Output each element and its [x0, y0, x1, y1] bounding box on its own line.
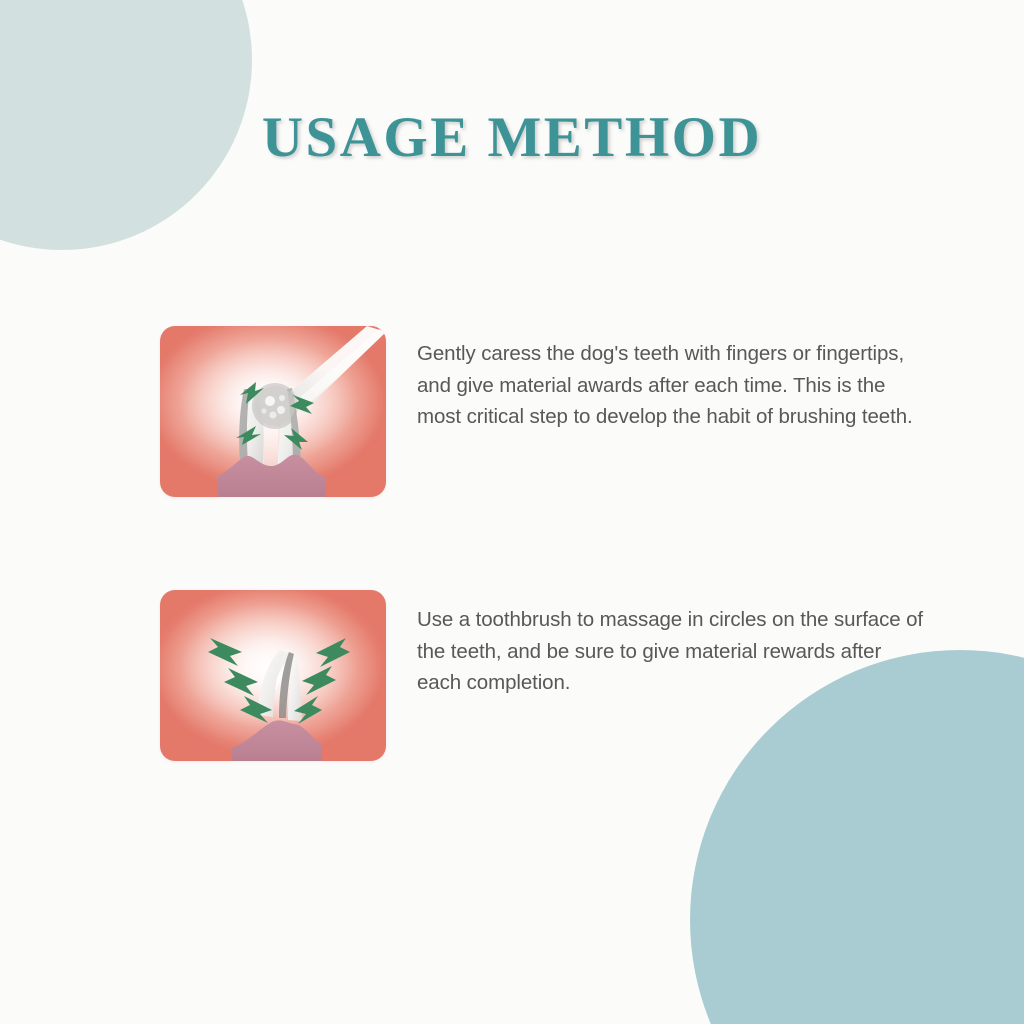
step-item: Use a toothbrush to massage in circles o… [160, 590, 950, 765]
finger-brushing-tooth-icon [160, 326, 386, 497]
step-2-illustration-card [160, 590, 386, 761]
usage-method-infographic: USAGE METHOD [0, 0, 1024, 1024]
step-item: Gently caress the dog's teeth with finge… [160, 326, 950, 501]
step-2-description: Use a toothbrush to massage in circles o… [417, 604, 929, 699]
toothbrush-circular-massage-icon [160, 590, 386, 761]
step-1-illustration-card [160, 326, 386, 497]
page-title: USAGE METHOD [0, 104, 1024, 172]
step-1-description: Gently caress the dog's teeth with finge… [417, 338, 929, 433]
